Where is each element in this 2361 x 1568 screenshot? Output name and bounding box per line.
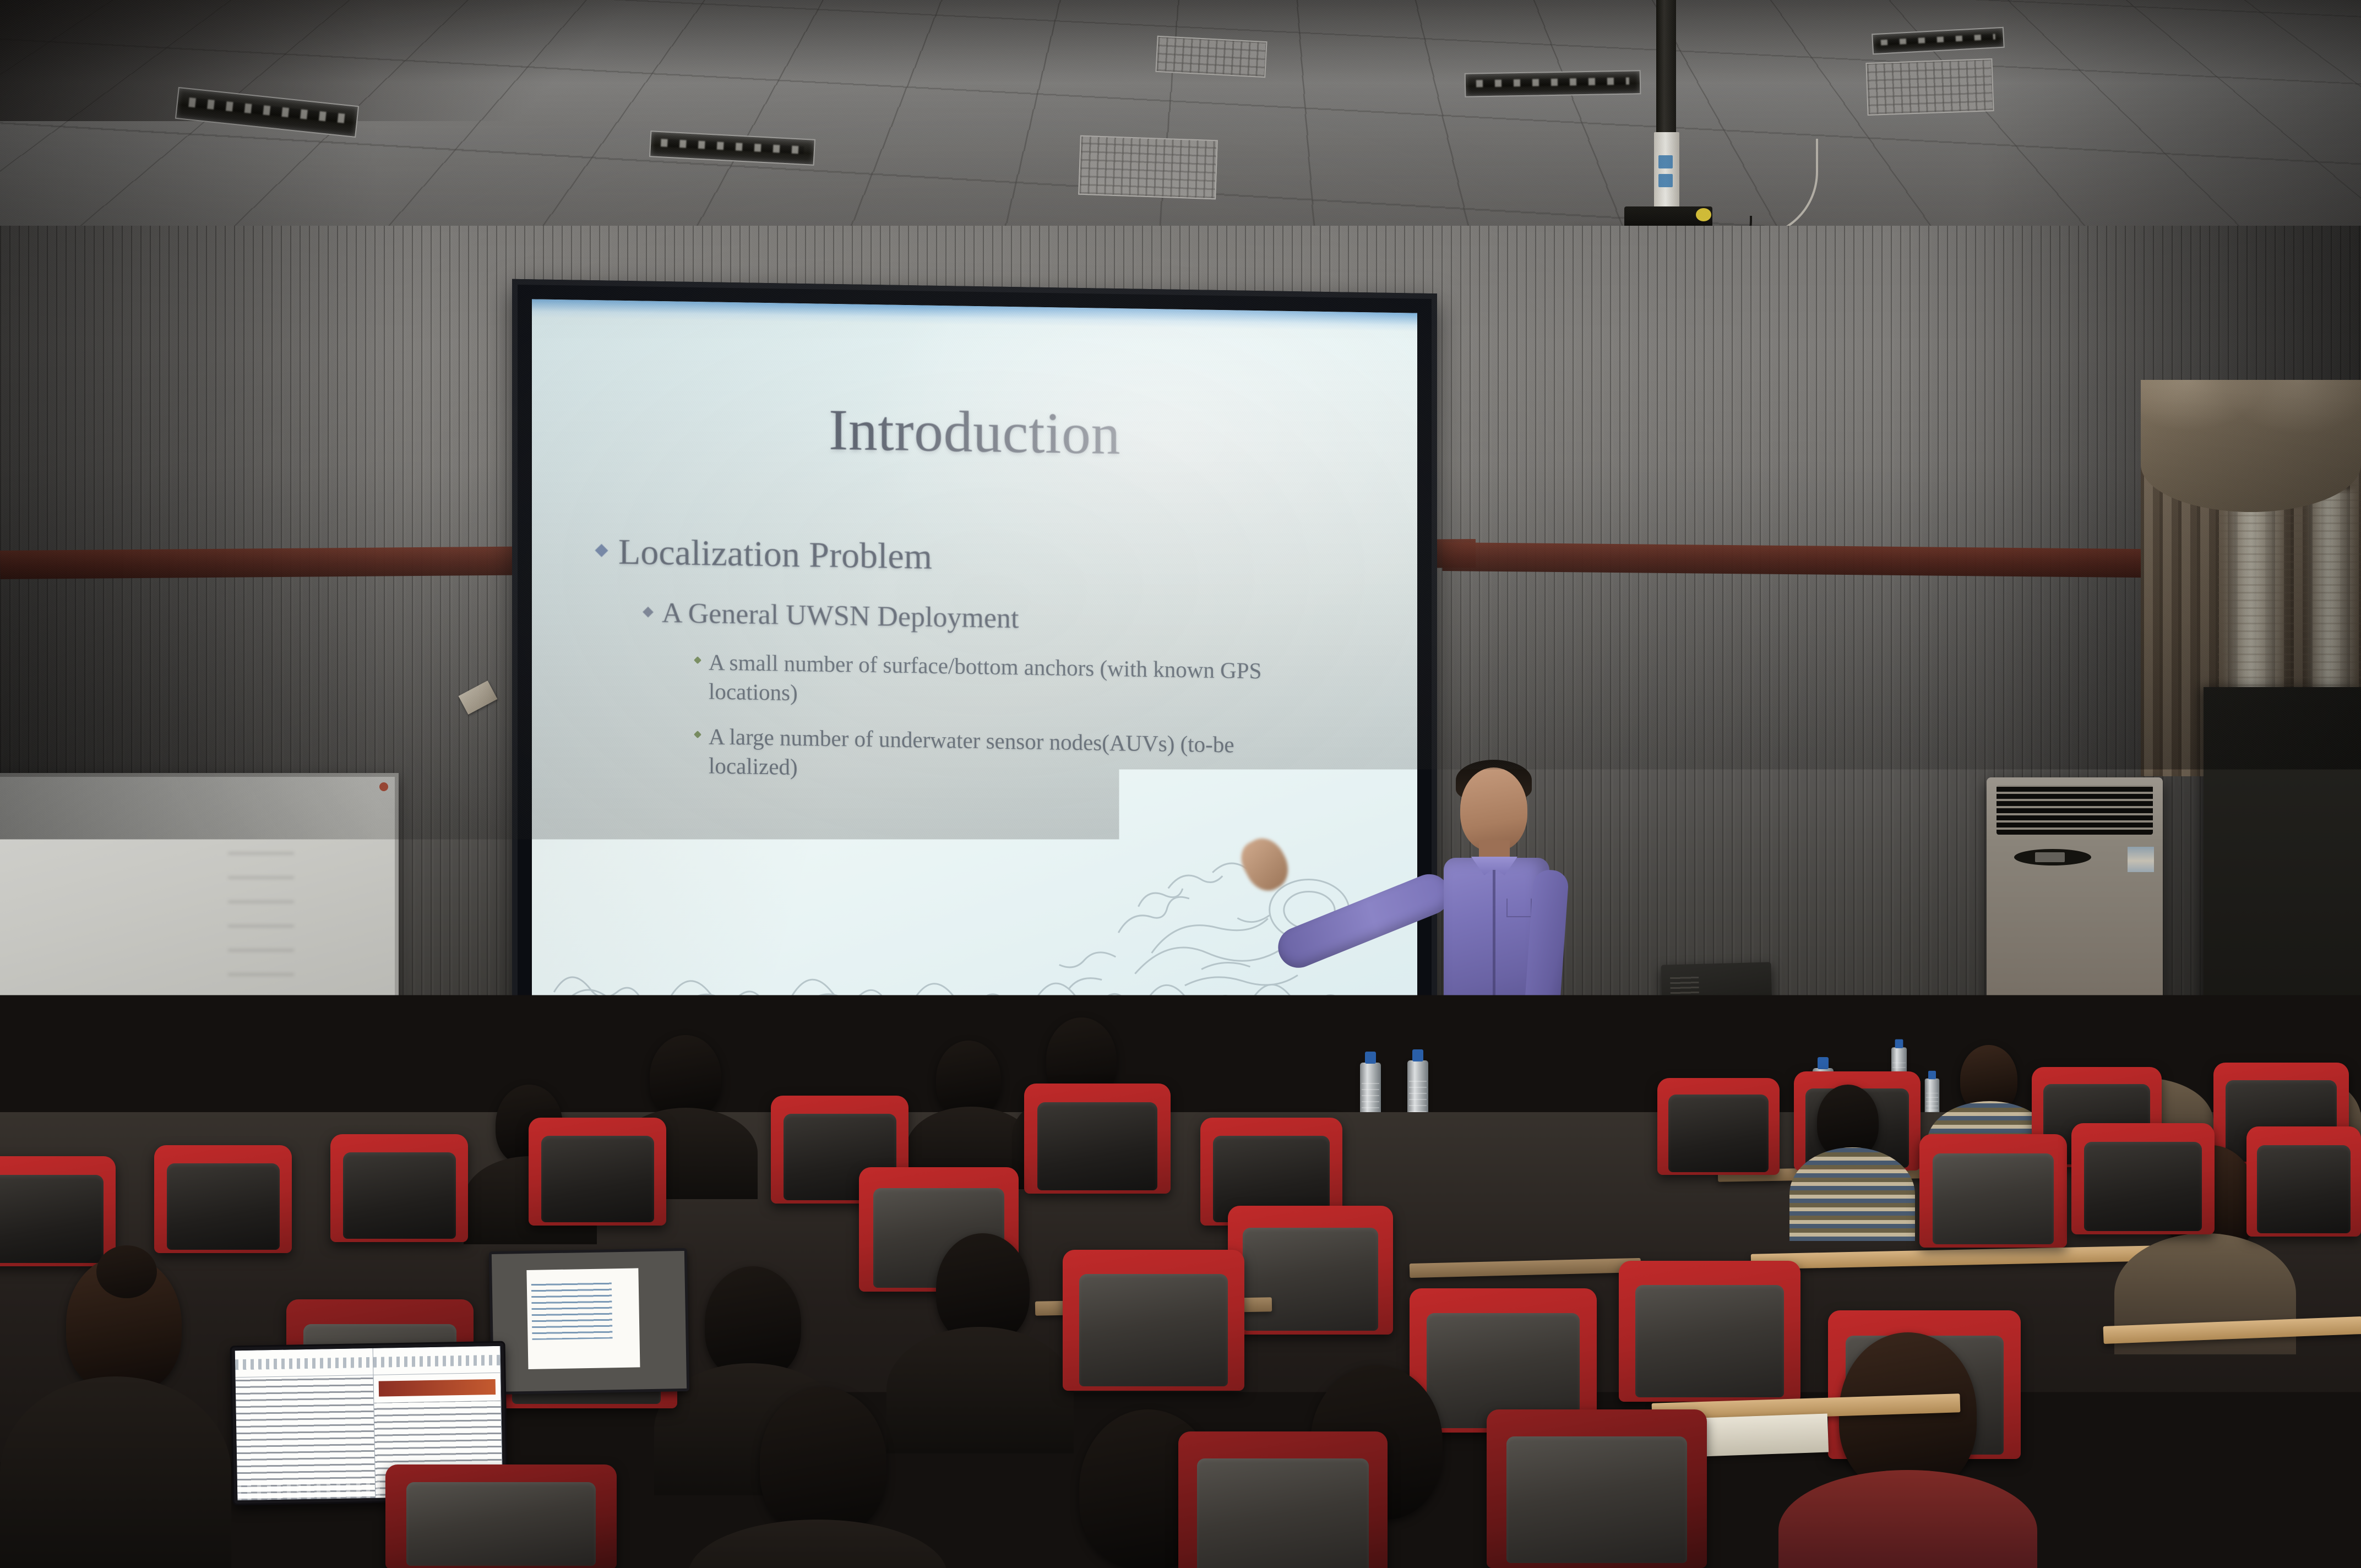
- document-header-band: [379, 1379, 496, 1396]
- presenter-head: [1460, 767, 1527, 851]
- auditorium-seat[interactable]: [1178, 1431, 1388, 1568]
- slide-bullet-text: A small number of surface/bottom anchors…: [709, 648, 1317, 715]
- document-window: [526, 1268, 640, 1369]
- auditorium-seat[interactable]: [1487, 1409, 1707, 1568]
- whiteboard-magnet-icon: [379, 782, 388, 791]
- slide-bullet-level1: Localization Problem: [597, 530, 1384, 585]
- window-toolbar[interactable]: [235, 1348, 373, 1378]
- auditorium-seat[interactable]: [1619, 1261, 1800, 1402]
- auditorium-seat[interactable]: [1919, 1134, 2067, 1248]
- slide-bullet-level3: A large number of underwater sensor node…: [695, 722, 1317, 790]
- ceiling-air-grille-icon: [1865, 58, 1994, 116]
- audience-head-foreground: [760, 1387, 886, 1536]
- slide-bullet-text: A large number of underwater sensor node…: [709, 722, 1317, 790]
- small-diamond-bullet-icon: [694, 731, 701, 738]
- audience-head: [650, 1035, 721, 1119]
- window-toolbar[interactable]: [373, 1346, 500, 1375]
- auditorium-seat[interactable]: [1228, 1206, 1393, 1335]
- slide-bullet-list: Localization Problem A General UWSN Depl…: [597, 530, 1384, 791]
- slide-top-glow: [532, 299, 1417, 331]
- diamond-bullet-icon: [595, 544, 608, 557]
- air-conditioner-louver-grille: [1996, 785, 2153, 835]
- whiteboard-marker-tray: [0, 1075, 399, 1087]
- ceiling-air-grille-icon: [1078, 135, 1218, 200]
- document-window-left[interactable]: [235, 1348, 376, 1500]
- ceiling-dark-corner: [0, 0, 694, 121]
- auditorium-seat[interactable]: [529, 1118, 666, 1226]
- diamond-bullet-icon: [643, 607, 654, 618]
- auditorium-seat[interactable]: [2071, 1123, 2215, 1234]
- slide-bullet-text: Localization Problem: [618, 531, 932, 579]
- auditorium-seat[interactable]: [1063, 1250, 1244, 1391]
- lecture-hall-photo: Introduction Localization Problem A Gene…: [0, 0, 2361, 1568]
- audience-shoulders: [1789, 1147, 1915, 1241]
- air-conditioner-display-panel[interactable]: [2014, 849, 2091, 865]
- audience-shoulders: [886, 1327, 1074, 1453]
- auditorium-seat[interactable]: [330, 1134, 468, 1242]
- auditorium-seat[interactable]: [1024, 1084, 1171, 1194]
- whiteboard: [0, 773, 399, 1081]
- apple-logo-icon: [1586, 1084, 1603, 1103]
- audience-shoulders: [0, 1376, 231, 1568]
- laptop-screen: [492, 1251, 687, 1392]
- audience-head: [936, 1041, 1001, 1118]
- slide-bullet-level3: A small number of surface/bottom anchors…: [695, 647, 1317, 715]
- auditorium-seat[interactable]: [2037, 1442, 2268, 1568]
- dark-wall-board: [2204, 687, 2361, 1039]
- slide-title: Introduction: [532, 391, 1417, 472]
- slide-bullet-text: A General UWSN Deployment: [662, 596, 1019, 636]
- audience-hair-bun: [96, 1245, 157, 1298]
- presenter-shirt-pocket: [1506, 899, 1532, 917]
- presenter-shirt-placket: [1493, 870, 1495, 1013]
- small-diamond-bullet-icon: [694, 656, 701, 664]
- auditorium-seat[interactable]: [385, 1464, 617, 1568]
- ceiling-light-icon: [1465, 70, 1641, 97]
- ceiling-air-grille-icon: [1155, 36, 1267, 78]
- whiteboard-erased-marks: [228, 843, 294, 1025]
- auditorium-seat[interactable]: [2246, 1126, 2361, 1237]
- auditorium-seat[interactable]: [154, 1145, 292, 1253]
- air-conditioner-label: [2128, 847, 2154, 872]
- slide-bullet-level2: A General UWSN Deployment: [644, 596, 1384, 642]
- projected-slide: Introduction Localization Problem A Gene…: [532, 299, 1417, 1027]
- curtain-valance: [2141, 380, 2361, 512]
- monitor-vents: [1670, 976, 1700, 1048]
- presenter-belt: [1444, 1016, 1552, 1031]
- auditorium-seat[interactable]: [0, 1156, 116, 1266]
- auditorium-seat[interactable]: [1657, 1078, 1780, 1175]
- audience-laptop[interactable]: [489, 1248, 689, 1395]
